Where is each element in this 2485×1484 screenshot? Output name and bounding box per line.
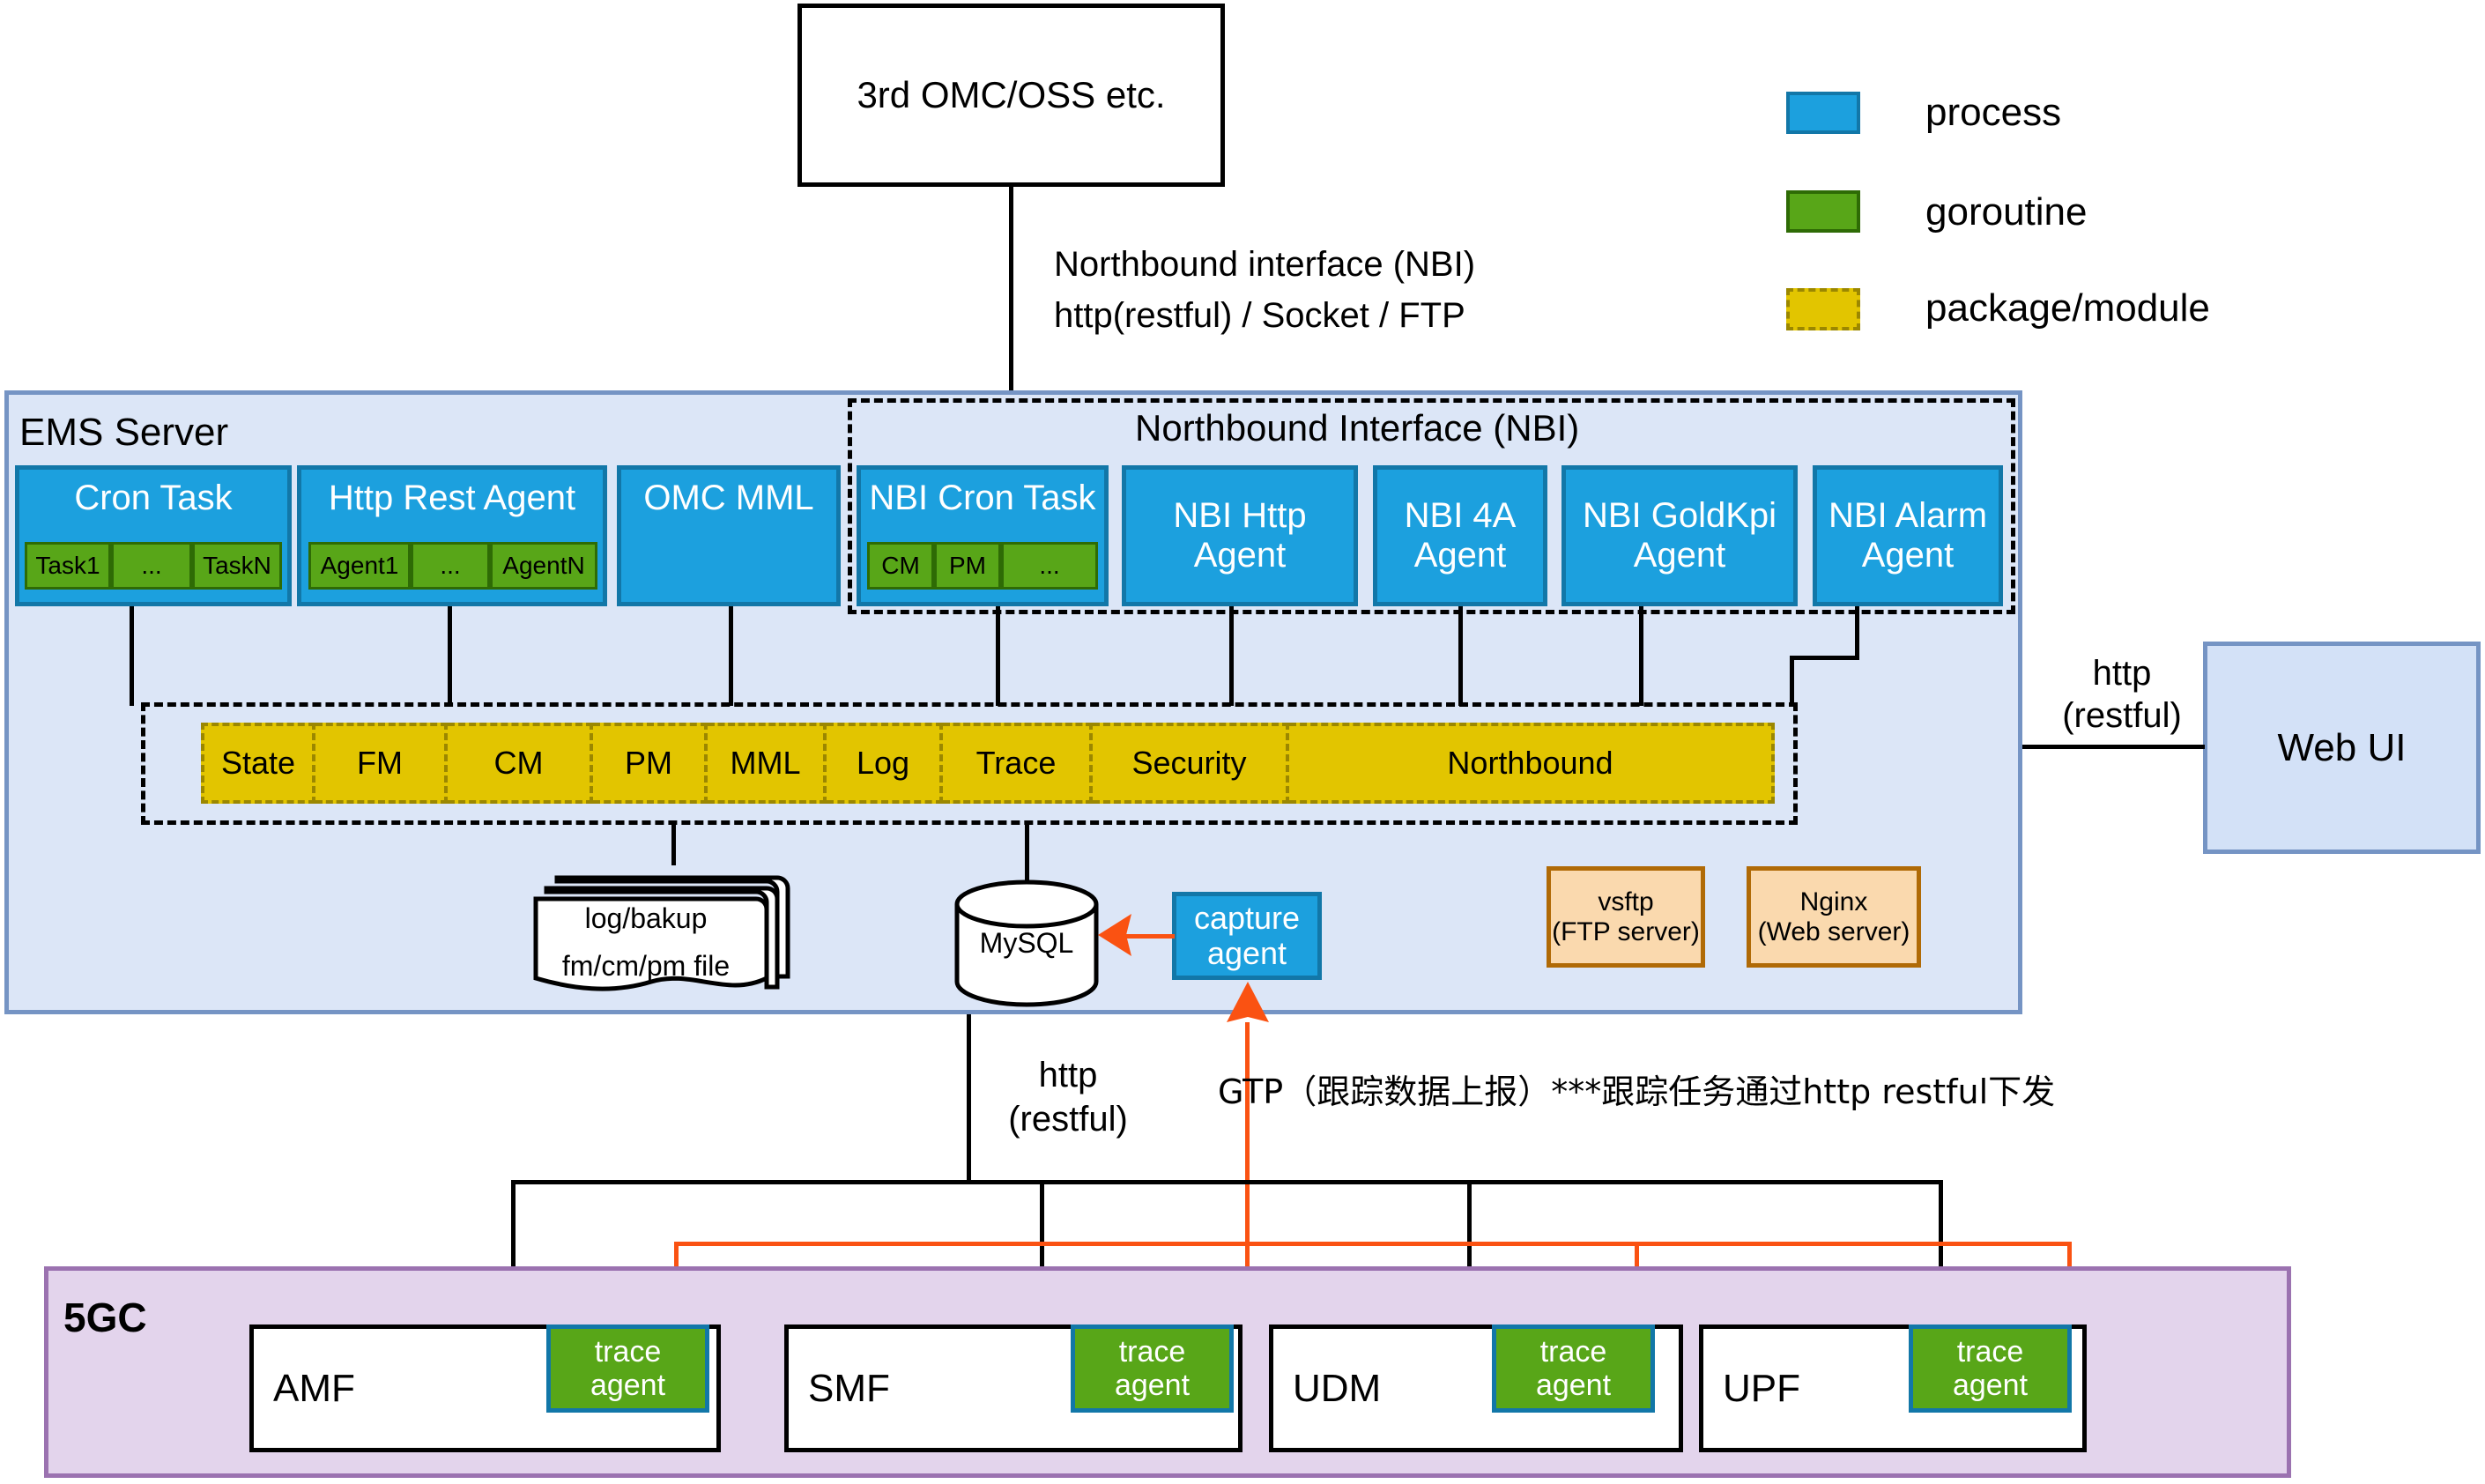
connector-cron-task-to-modules [130,606,134,706]
nbi-group-title: Northbound Interface (NBI) [1135,407,1579,449]
connector-nbi-http-agent-to-modules [1229,606,1234,706]
web-ui-link-label-line2: (restful) [2034,696,2210,736]
connector-ems-to-web-ui [2022,745,2205,749]
connector-nbi-alarm-agent-segment-top [1855,606,1859,656]
vsftp-server-box: vsftp (FTP server) [1547,866,1705,968]
nbi-link-label-line2: http(restful) / Socket / FTP [1054,296,1465,336]
gtp-note-label: GTP（跟踪数据上报）***跟踪任务通过http restful下发 [1218,1065,2055,1113]
legend-swatch-goroutine [1786,190,1860,233]
module-mml-label: MML [731,746,801,781]
process-nbi-http-agent-label: NBI Http Agent [1173,496,1306,575]
oss-to-ems-connector [1009,187,1013,395]
process-nbi-http-agent[interactable]: NBI Http Agent [1122,465,1358,606]
process-nbi-4a-agent[interactable]: NBI 4A Agent [1373,465,1547,606]
process-capture-agent-label: capture agent [1194,901,1300,972]
trace-agent-amf[interactable]: trace agent [546,1324,709,1413]
process-cron-task-label: Cron Task [74,479,232,518]
trace-agent-upf[interactable]: trace agent [1909,1324,2072,1413]
connector-omc-mml-to-modules [729,606,733,706]
vsftp-server-label-line1: vsftp [1598,887,1653,917]
legend-label-package-module: package/module [1925,286,2210,330]
arrow-capture-agent-to-mysql-head [1098,914,1133,956]
process-nbi-alarm-agent[interactable]: NBI Alarm Agent [1813,465,2003,606]
module-pm-label: PM [625,746,672,781]
module-cm-label: CM [494,746,544,781]
goroutine-nbi-cm[interactable]: CM [867,542,934,590]
trace-agent-upf-label: trace agent [1953,1335,2028,1402]
process-nbi-cron-task-label: NBI Cron Task [869,479,1095,518]
legend-swatch-process [1786,92,1860,134]
connector-nbi-4a-agent-to-modules [1458,606,1463,706]
legend-swatch-package-module [1786,288,1860,330]
web-ui-link-label-line1: http [2043,654,2201,694]
goroutine-agentn[interactable]: AgentN [490,542,597,590]
arrow-gtp-to-capture-agent-head [1227,982,1269,1026]
ems-server-title: EMS Server [19,411,228,455]
connector-nbi-alarm-agent-segment-mid [1790,656,1859,660]
goroutine-agentn-label: AgentN [502,552,584,579]
module-northbound[interactable]: Northbound [1289,723,1775,804]
orange-bus-horizontal [674,1242,2072,1246]
diagram-canvas: 3rd OMC/OSS etc. Northbound interface (N… [0,0,2485,1484]
legend-label-goroutine: goroutine [1925,190,2087,234]
process-omc-mml[interactable]: OMC MML [617,465,841,606]
goroutine-agent-ellipsis-label: ... [440,552,460,579]
goroutine-agent1[interactable]: Agent1 [308,542,411,590]
trace-agent-smf-label: trace agent [1115,1335,1190,1402]
connector-modules-to-file-stack [671,825,676,865]
process-nbi-4a-agent-label: NBI 4A Agent [1405,496,1517,575]
goroutine-agent1-label: Agent1 [321,552,399,579]
network-function-upf-label: UPF [1723,1367,1800,1410]
goroutine-nbi-pm[interactable]: PM [934,542,1001,590]
process-omc-mml-label: OMC MML [643,479,813,518]
web-ui-box[interactable]: Web UI [2203,642,2481,854]
process-http-rest-agent-label: Http Rest Agent [329,479,575,518]
connector-http-rest-agent-to-modules [448,606,452,706]
module-northbound-label: Northbound [1447,746,1613,781]
module-trace-label: Trace [976,746,1057,781]
module-state[interactable]: State [201,723,315,804]
process-nbi-goldkpi-agent-label: NBI GoldKpi Agent [1583,496,1777,575]
module-mml[interactable]: MML [708,723,827,804]
network-function-amf-label: AMF [273,1367,355,1410]
connector-nbi-alarm-agent-segment-bottom [1790,656,1794,706]
connector-nbi-goldkpi-agent-to-modules [1639,606,1643,706]
file-stack-label-line1: log/bakup [536,902,756,935]
arrow-gtp-to-capture-agent-line [1245,1022,1250,1246]
module-fm[interactable]: FM [315,723,448,804]
third-party-omc-oss-box: 3rd OMC/OSS etc. [797,4,1225,187]
goroutine-task1-label: Task1 [35,552,100,579]
goroutine-nbi-cm-label: CM [881,552,920,579]
module-cm[interactable]: CM [448,723,593,804]
process-nbi-alarm-agent-label: NBI Alarm Agent [1829,496,1987,575]
module-log-label: Log [857,746,909,781]
network-function-udm-label: UDM [1293,1367,1381,1410]
ems-to-5gc-label-line2: (restful) [989,1100,1147,1139]
trace-agent-smf[interactable]: trace agent [1071,1324,1234,1413]
module-state-label: State [221,746,295,781]
mysql-database-label: MySQL [952,927,1102,960]
file-stack-label-line2: fm/cm/pm file [536,950,756,983]
core-5gc-title: 5GC [63,1294,147,1341]
connector-modules-to-mysql [1025,825,1029,883]
goroutine-taskn-label: TaskN [203,552,271,579]
legend-label-process: process [1925,91,2061,135]
goroutine-task1[interactable]: Task1 [25,542,111,590]
web-ui-label: Web UI [2278,726,2407,769]
goroutine-nbi-ellipsis-label: ... [1039,552,1059,579]
connector-ems-to-5gc-trunk [967,1014,971,1182]
module-trace[interactable]: Trace [943,723,1093,804]
module-log[interactable]: Log [827,723,943,804]
nginx-server-label-line1: Nginx [1800,887,1868,917]
module-security-label: Security [1131,746,1246,781]
goroutine-nbi-pm-label: PM [949,552,986,579]
goroutine-taskn[interactable]: TaskN [192,542,282,590]
trace-agent-amf-label: trace agent [590,1335,665,1402]
trace-agent-udm-label: trace agent [1536,1335,1611,1402]
nginx-server-label-line2: (Web server) [1758,917,1910,947]
goroutine-task-ellipsis[interactable]: ... [111,542,192,590]
nbi-link-label-line1: Northbound interface (NBI) [1054,245,1475,285]
nginx-server-box: Nginx (Web server) [1747,866,1921,968]
vsftp-server-label-line2: (FTP server) [1552,917,1700,947]
module-pm[interactable]: PM [593,723,708,804]
ems-to-5gc-label-line1: http [998,1056,1139,1095]
goroutine-nbi-ellipsis[interactable]: ... [1001,542,1098,590]
goroutine-agent-ellipsis[interactable]: ... [411,542,490,590]
connector-nbi-cron-task-to-modules [996,606,1000,706]
module-fm-label: FM [357,746,403,781]
goroutine-task-ellipsis-label: ... [141,552,161,579]
third-party-omc-oss-label: 3rd OMC/OSS etc. [857,74,1165,115]
black-bus-horizontal [511,1180,1943,1184]
trace-agent-udm[interactable]: trace agent [1492,1324,1655,1413]
network-function-smf-label: SMF [808,1367,890,1410]
process-capture-agent[interactable]: capture agent [1172,892,1322,980]
process-nbi-goldkpi-agent[interactable]: NBI GoldKpi Agent [1561,465,1798,606]
module-security[interactable]: Security [1093,723,1289,804]
